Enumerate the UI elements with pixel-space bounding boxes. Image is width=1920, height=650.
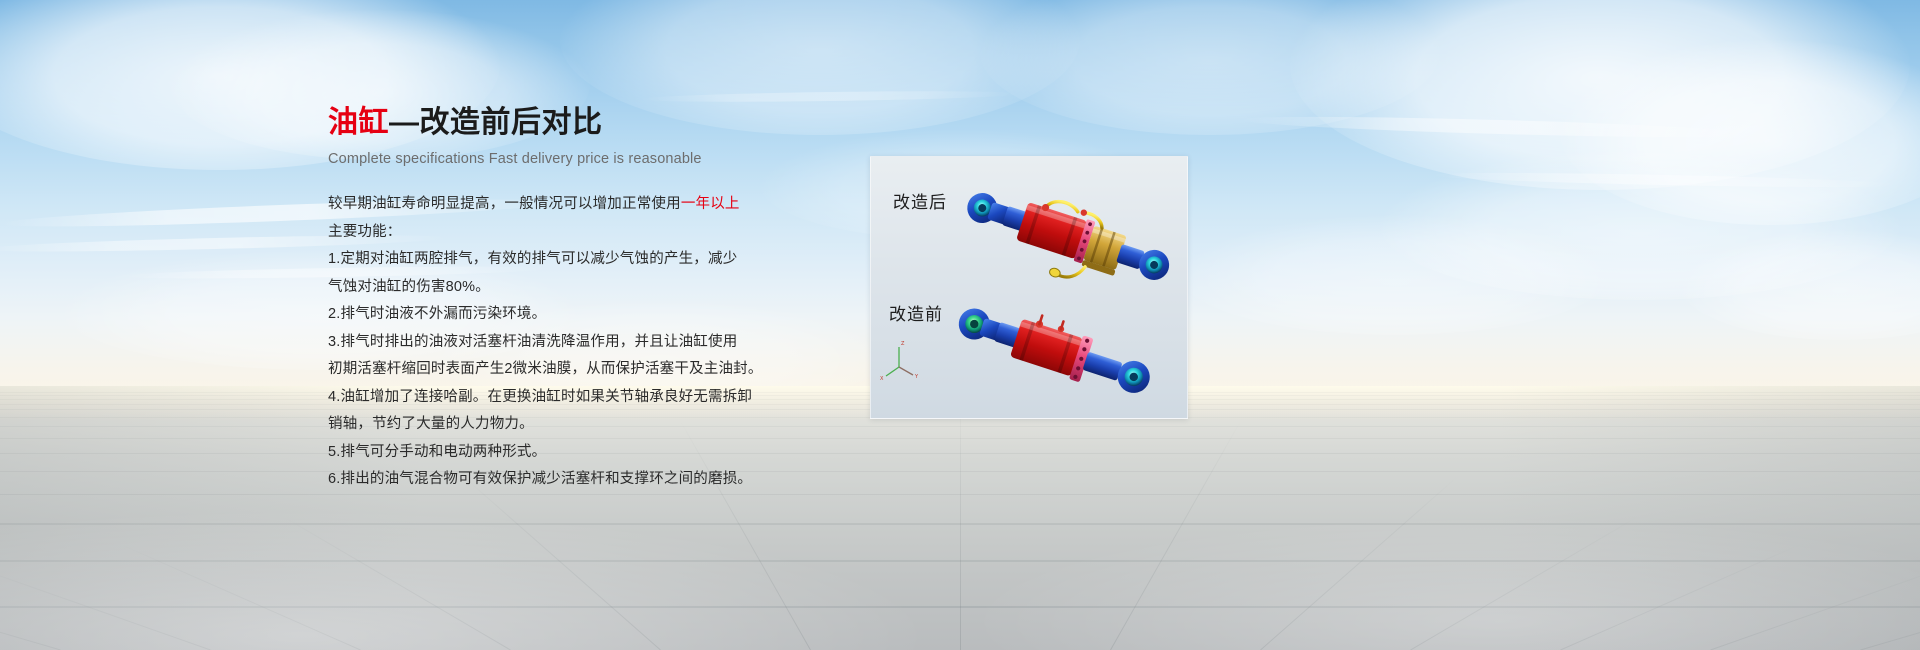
feature-line: 4.油缸增加了连接哈副。在更换油缸时如果关节轴承良好无需拆卸 (328, 384, 888, 412)
feature-line: 3.排气时排出的油液对活塞杆油清洗降温作用，并且让油缸使用 (328, 329, 888, 357)
cloud-shape (1380, 150, 1900, 300)
cloud-streak (1430, 170, 1900, 190)
page-subtitle: Complete specifications Fast delivery pr… (328, 149, 888, 169)
feature-line-text: 3.排气时排出的油液对活塞杆油清洗降温作用，并且让油缸使用 (328, 334, 737, 350)
cylinder-after-figure (955, 174, 1179, 310)
vent-valve-after (1080, 209, 1088, 217)
label-after-modification: 改造后 (893, 193, 947, 213)
svg-text:Z: Z (901, 341, 905, 347)
axis-triad-icon: Z X Y (880, 341, 919, 382)
feature-line-text: 销轴，节约了大量的人力物力。 (328, 416, 534, 432)
page-title-accent: 油缸 (328, 106, 389, 139)
feature-line-text: 1.定期对油缸两腔排气，有效的排气可以减少气蚀的产生，减少 (328, 251, 737, 267)
cloud-streak (1240, 113, 1760, 142)
banner-copy: 油缸—改造前后对比 Complete specifications Fast d… (328, 104, 888, 494)
cloud-shape (1560, 40, 1920, 225)
page-title: 油缸—改造前后对比 (328, 104, 888, 142)
feature-line: 较早期油缸寿命明显提高，一般情况可以增加正常使用一年以上 (328, 191, 888, 219)
cloud-streak (640, 89, 1020, 103)
rod-right-before (1082, 352, 1122, 381)
svg-text:X: X (880, 376, 884, 382)
feature-line-text: 2.排气时油液不外漏而污染环境。 (328, 306, 546, 322)
feature-line-text: 较早期油缸寿命明显提高，一般情况可以增加正常使用 (328, 196, 681, 212)
label-before-modification: 改造前 (889, 305, 943, 325)
product-image-panel: Z X Y 改造后 改造前 (870, 156, 1188, 419)
hero-banner: 油缸—改造前后对比 Complete specifications Fast d… (0, 0, 1920, 650)
feature-line: 初期活塞杆缩回时表面产生2微米油膜，从而保护活塞干及主油封。 (328, 356, 888, 384)
plaza-ground (0, 386, 1920, 650)
feature-line-text: 5.排气可分手动和电动两种形式。 (328, 444, 546, 460)
svg-text:Y: Y (914, 374, 919, 380)
cloud-shape (1180, 215, 1610, 335)
cloud-shape (1290, 0, 1910, 190)
ground-shading (0, 386, 1920, 650)
feature-line: 2.排气时油液不外漏而污染环境。 (328, 301, 888, 329)
page-title-rest: —改造前后对比 (389, 106, 603, 139)
cloud-shape (980, 0, 1440, 135)
feature-line-text: 4.油缸增加了连接哈副。在更换油缸时如果关节轴承良好无需拆卸 (328, 389, 752, 405)
feature-line-text: 6.排出的油气混合物可有效保护减少活塞杆和支撑环之间的磨损。 (328, 471, 752, 487)
feature-line: 5.排气可分手动和电动两种形式。 (328, 439, 888, 467)
feature-line-text: 初期活塞杆缩回时表面产生2微米油膜，从而保护活塞干及主油封。 (328, 361, 763, 377)
feature-line: 销轴，节约了大量的人力物力。 (328, 411, 888, 439)
feature-line-text: 气蚀对油缸的伤害80%。 (328, 279, 490, 295)
feature-line: 主要功能： (328, 219, 888, 247)
feature-line: 6.排出的油气混合物可有效保护减少活塞杆和支撑环之间的磨损。 (328, 466, 888, 494)
feature-line: 1.定期对油缸两腔排气，有效的排气可以减少气蚀的产生，减少 (328, 246, 888, 274)
feature-list: 较早期油缸寿命明显提高，一般情况可以增加正常使用一年以上主要功能：1.定期对油缸… (328, 191, 888, 494)
cylinder-before-figure (952, 291, 1158, 403)
feature-line: 气蚀对油缸的伤害80%。 (328, 274, 888, 302)
barrel-before (1010, 319, 1083, 377)
feature-line-text: 主要功能： (328, 224, 402, 240)
cloud-shape (1680, 230, 1920, 340)
feature-line-accent: 一年以上 (681, 196, 740, 212)
